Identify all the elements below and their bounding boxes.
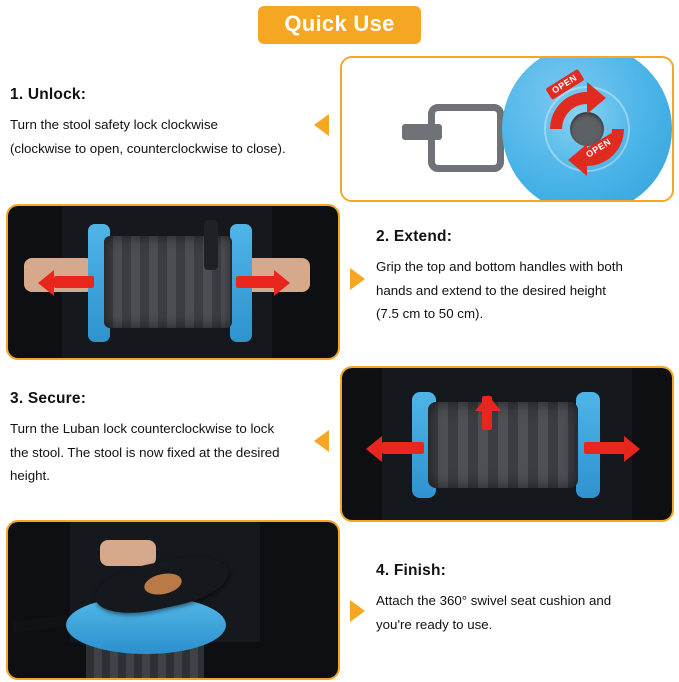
secure-arrow-right-bar <box>584 442 626 454</box>
secure-arrow-right-head <box>624 436 640 462</box>
step-3-text-block: 3. Secure: Turn the Luban lock countercl… <box>10 390 330 488</box>
step-1-line-1: Turn the stool safety lock clockwise <box>10 113 320 137</box>
photo-step-2-extend <box>6 204 340 360</box>
step-1-line-2: (clockwise to open, counterclockwise to … <box>10 137 320 161</box>
expand-arrow-left-bar <box>54 276 94 288</box>
triangle-right-icon-step-4 <box>350 600 365 622</box>
step-1-text-block: 1. Unlock: Turn the stool safety lock cl… <box>10 86 320 160</box>
photo-step-4-finish <box>6 520 340 680</box>
expand-arrow-right-head <box>274 270 290 296</box>
expand-arrow-left-head <box>38 270 54 296</box>
step-4-line-2: you're ready to use. <box>376 613 668 637</box>
secure-arrow-left-head <box>366 436 382 462</box>
step-3-heading: 3. Secure: <box>10 390 330 408</box>
secure-arrow-left-bar <box>382 442 424 454</box>
step-2-line-3: (7.5 cm to 50 cm). <box>376 302 668 326</box>
triangle-right-icon-step-2 <box>350 268 365 290</box>
step-3-line-3: height. <box>10 464 330 488</box>
hand-placing-cushion <box>100 540 156 566</box>
triangle-left-icon-step-1 <box>314 114 329 136</box>
step-3-line-2: the stool. The stool is now fixed at the… <box>10 441 330 465</box>
expand-arrow-right-bar <box>236 276 276 288</box>
step-1-heading: 1. Unlock: <box>10 86 320 104</box>
step-2-line-2: hands and extend to the desired height <box>376 279 668 303</box>
photo-step-1-unlock: OPEN OPEN <box>340 56 674 202</box>
triangle-left-icon-step-3 <box>314 430 329 452</box>
page-title: Quick Use <box>258 6 420 44</box>
step-2-text-block: 2. Extend: Grip the top and bottom handl… <box>376 228 668 326</box>
stool-body-extended <box>428 402 578 488</box>
stool-handle-graphic <box>428 104 504 172</box>
step-4-line-1: Attach the 360° swivel seat cushion and <box>376 589 668 613</box>
step-2-line-1: Grip the top and bottom handles with bot… <box>376 255 668 279</box>
quick-use-page: Quick Use 1. Unlock: Turn the stool safe… <box>0 0 679 682</box>
stool-grip-handle <box>204 220 218 270</box>
page-title-wrapper: Quick Use <box>0 6 679 44</box>
step-4-text-block: 4. Finish: Attach the 360° swivel seat c… <box>376 562 668 636</box>
step-3-line-1: Turn the Luban lock counterclockwise to … <box>10 417 330 441</box>
safety-lock-disc: OPEN OPEN <box>502 56 672 202</box>
step-2-heading: 2. Extend: <box>376 228 668 246</box>
secure-arrow-up-head <box>475 395 501 411</box>
photo-step-3-secure <box>340 366 674 522</box>
step-4-heading: 4. Finish: <box>376 562 668 580</box>
